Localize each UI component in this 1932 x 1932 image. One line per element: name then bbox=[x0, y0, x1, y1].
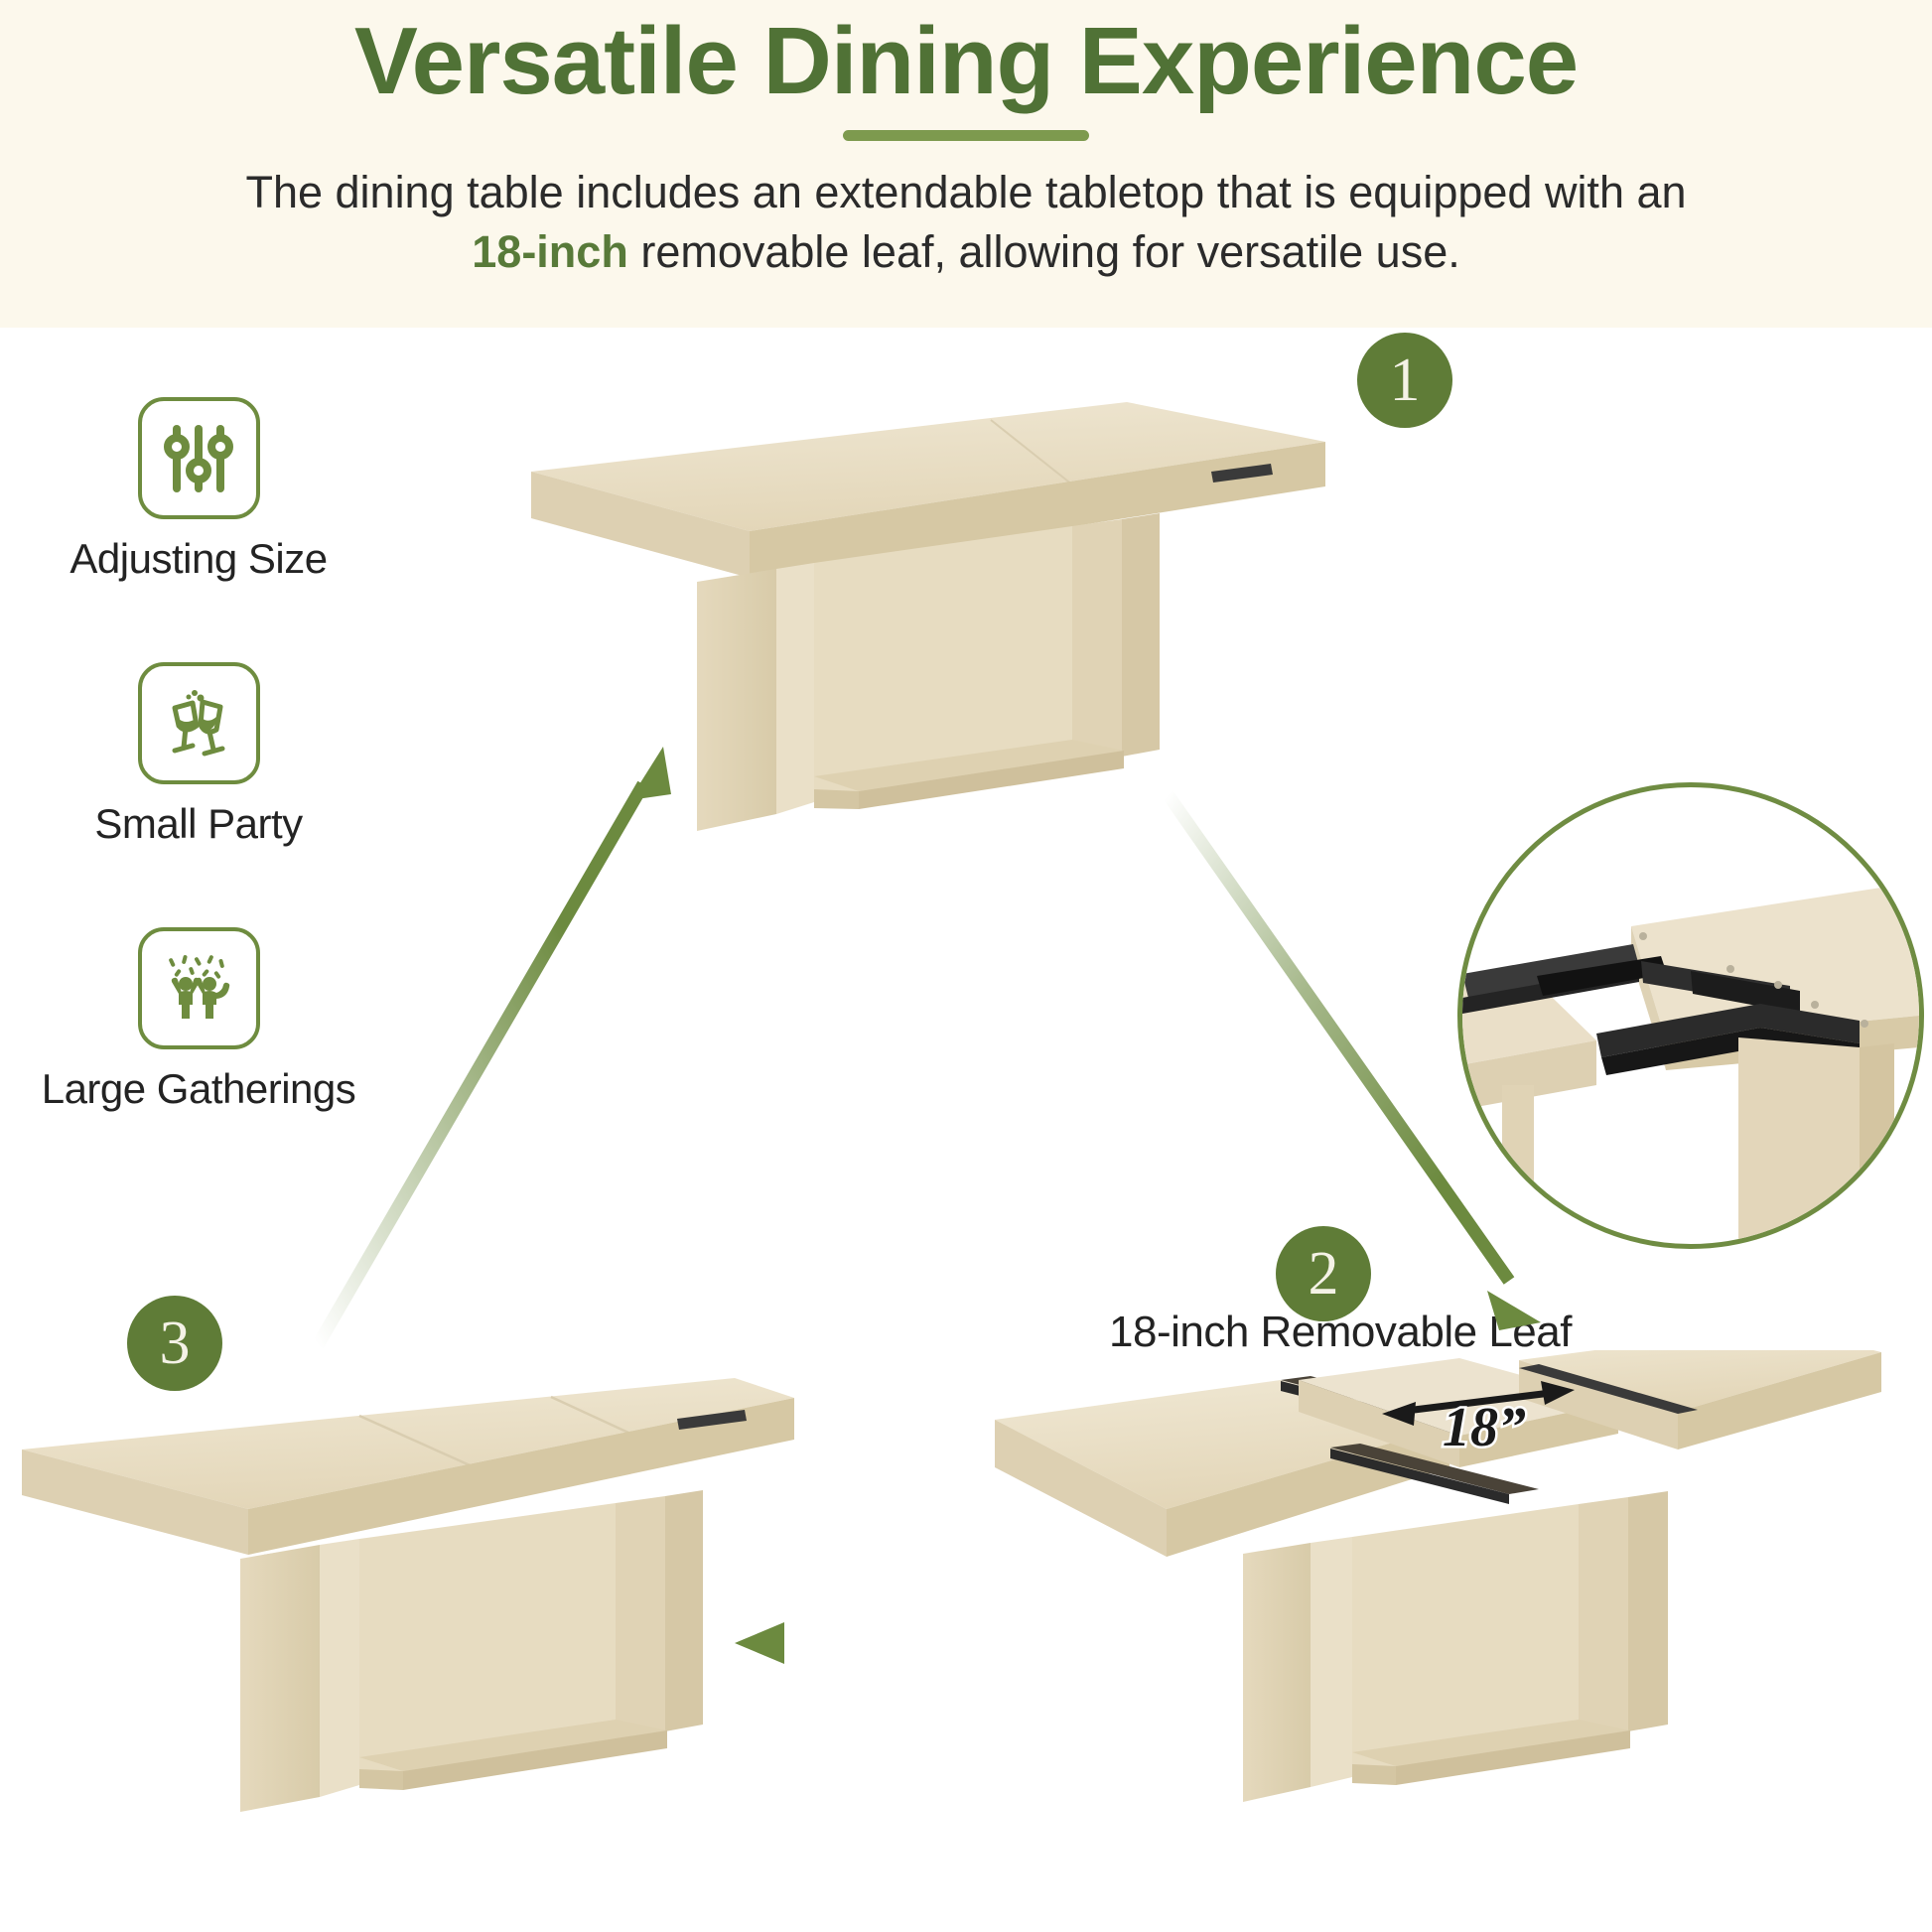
feature-item-small-party: Small Party bbox=[0, 662, 397, 848]
title-divider bbox=[843, 130, 1089, 141]
header-subtitle: The dining table includes an extendable … bbox=[245, 163, 1686, 282]
slide-mechanism-closeup bbox=[1462, 787, 1919, 1244]
table-illustration-separated: 18” bbox=[983, 1350, 1896, 1847]
feature-item-large-gatherings: Large Gatherings bbox=[0, 927, 397, 1113]
step-badge-1: 1 bbox=[1357, 333, 1452, 428]
feature-label: Large Gatherings bbox=[42, 1065, 356, 1113]
cheers-glasses-icon bbox=[138, 662, 260, 784]
subtitle-line-1: The dining table includes an extendable … bbox=[245, 167, 1686, 217]
header-band: Versatile Dining Experience The dining t… bbox=[0, 0, 1932, 328]
leaf-caption: 18-inch Removable Leaf bbox=[1109, 1308, 1572, 1357]
celebrating-people-icon bbox=[138, 927, 260, 1049]
detail-inset-circle bbox=[1457, 782, 1924, 1249]
dimension-label: 18” bbox=[1443, 1397, 1526, 1458]
sliders-icon bbox=[138, 397, 260, 519]
step-badge-3: 3 bbox=[127, 1296, 222, 1391]
feature-label: Adjusting Size bbox=[69, 535, 327, 583]
table-illustration-closed bbox=[516, 387, 1340, 844]
subtitle-line-2: removable leaf, allowing for versatile u… bbox=[640, 226, 1459, 277]
subtitle-highlight: 18-inch bbox=[472, 226, 628, 277]
feature-list: Adjusting Size Small Party bbox=[0, 397, 397, 1192]
table-illustration-extended bbox=[10, 1360, 804, 1857]
feature-label: Small Party bbox=[94, 800, 302, 848]
feature-item-adjusting-size: Adjusting Size bbox=[0, 397, 397, 583]
page-title: Versatile Dining Experience bbox=[354, 12, 1578, 112]
